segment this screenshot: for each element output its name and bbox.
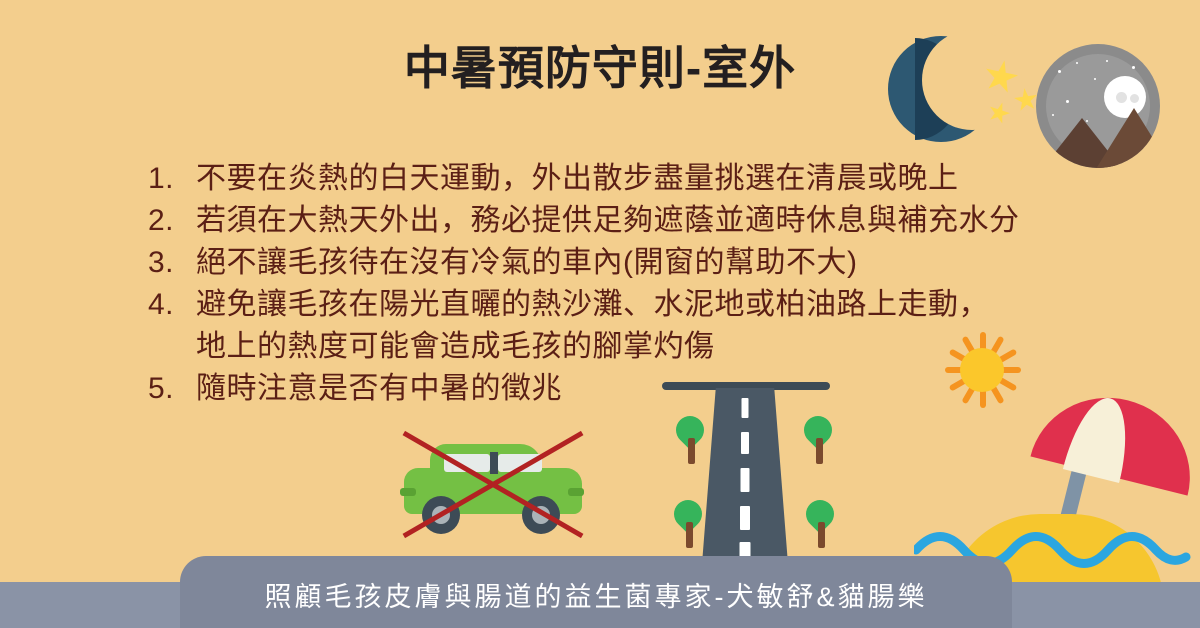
list-item-number: 1.	[148, 158, 196, 200]
list-item-text: 若須在大熱天外出，務必提供足夠遮蔭並適時休息與補充水分	[196, 200, 1020, 242]
list-item-text: 隨時注意是否有中暑的徵兆	[196, 368, 562, 410]
tree-trunk	[818, 522, 825, 548]
sun-icon	[960, 348, 1004, 392]
list-item: 3. 絕不讓毛孩待在沒有冷氣的車內(開窗的幫助不大)	[148, 242, 1128, 284]
night-mountain-badge-icon	[1036, 44, 1160, 168]
list-item-number: 5.	[148, 368, 196, 410]
tiny-star-icon	[1058, 70, 1061, 73]
road-surface	[702, 388, 788, 564]
beach-umbrella-icon	[1028, 356, 1190, 486]
car-taillight	[568, 488, 584, 496]
list-item-text: 避免讓毛孩在陽光直曬的熱沙灘、水泥地或柏油路上走動，	[196, 284, 989, 326]
tiny-star-icon	[1106, 60, 1108, 62]
road-dash	[741, 468, 750, 492]
tiny-star-icon	[1066, 100, 1069, 103]
infographic-poster: 中暑預防守則-室外 1. 不要在炎熱的白天運動，外出散步盡量挑選在清晨或晚上 2…	[0, 0, 1200, 628]
mountain-shape	[1094, 108, 1160, 168]
tiny-star-icon	[1076, 62, 1078, 64]
footer-tagline: 照顧毛孩皮膚與腸道的益生菌專家-犬敏舒&貓腸樂	[180, 575, 1012, 614]
list-item-number: 4.	[148, 284, 196, 326]
road-dash	[741, 432, 749, 454]
tiny-star-icon	[1052, 114, 1054, 116]
list-item-number: 2.	[148, 200, 196, 242]
moon-crater	[1130, 94, 1139, 103]
car-headlight	[400, 488, 416, 496]
tree-trunk	[688, 438, 695, 464]
beach-scene-icon	[920, 332, 1200, 592]
list-item-text: 不要在炎熱的白天運動，外出散步盡量挑選在清晨或晚上	[196, 158, 959, 200]
list-item-number: 3.	[148, 242, 196, 284]
crescent-moon-icon	[888, 30, 1048, 170]
list-item-text: 絕不讓毛孩待在沒有冷氣的車內(開窗的幫助不大)	[196, 242, 857, 284]
tree-trunk	[686, 522, 693, 548]
tree-trunk	[816, 438, 823, 464]
list-item: 4. 避免讓毛孩在陽光直曬的熱沙灘、水泥地或柏油路上走動，	[148, 284, 1128, 326]
tiny-star-icon	[1094, 78, 1096, 80]
moon-crater	[1116, 92, 1127, 103]
road-icon	[660, 382, 860, 568]
no-car-icon	[398, 432, 588, 542]
list-item: 2. 若須在大熱天外出，務必提供足夠遮蔭並適時休息與補充水分	[148, 200, 1128, 242]
car-window-post	[490, 452, 498, 474]
road-dash	[740, 506, 750, 530]
tiny-star-icon	[1132, 66, 1135, 69]
road-dash	[742, 398, 749, 418]
